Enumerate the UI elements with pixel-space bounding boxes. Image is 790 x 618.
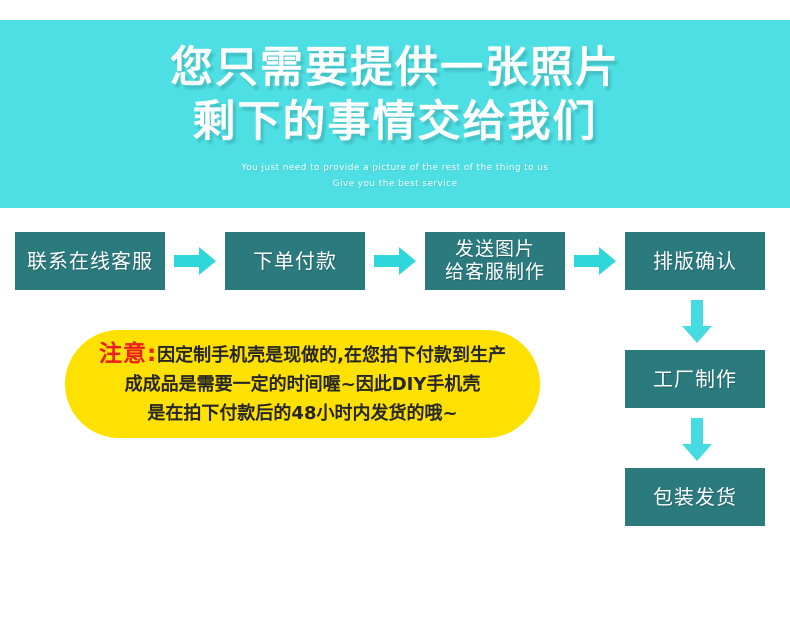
hero-banner: 您只需要提供一张照片 剩下的事情交给我们 You just need to pr… [0, 20, 790, 208]
flow-step-factory-production[interactable]: 工厂制作 [625, 350, 765, 408]
hero-subtitle-line-2: Give you the best service [242, 176, 549, 192]
arrow-right-icon [574, 246, 616, 276]
arrow-right-icon [174, 246, 216, 276]
hero-subtitle-line-1: You just need to provide a picture of th… [242, 160, 549, 176]
hero-title-line-1: 您只需要提供一张照片 [170, 42, 620, 94]
notice-label: 注意: [99, 341, 157, 367]
hero-subtitle: You just need to provide a picture of th… [242, 160, 549, 192]
notice-line-3: 是在拍下付款后的48小时内发货的哦~ [91, 399, 514, 428]
flow-step-packaging-shipping[interactable]: 包装发货 [625, 468, 765, 526]
flow-step-send-picture[interactable]: 发送图片 给客服制作 [425, 232, 565, 290]
notice-line-1: 注意:因定制手机壳是现做的,在您拍下付款到生产 [91, 340, 514, 370]
flow-step-send-picture-line-1: 发送图片 [445, 238, 545, 261]
notice-line-1-text: 因定制手机壳是现做的,在您拍下付款到生产 [157, 345, 506, 366]
flow-step-contact-service[interactable]: 联系在线客服 [15, 232, 165, 290]
notice-line-2: 成成品是需要一定的时间喔~因此DIY手机壳 [91, 370, 514, 399]
promo-page: 您只需要提供一张照片 剩下的事情交给我们 You just need to pr… [0, 0, 790, 618]
hero-title-line-2: 剩下的事情交给我们 [193, 96, 598, 148]
arrow-down-icon [681, 300, 713, 344]
arrow-right-icon [374, 246, 416, 276]
notice-callout: 注意:因定制手机壳是现做的,在您拍下付款到生产 成成品是需要一定的时间喔~因此D… [65, 330, 540, 438]
flow-step-layout-confirm[interactable]: 排版确认 [625, 232, 765, 290]
flow-step-send-picture-line-2: 给客服制作 [445, 261, 545, 284]
arrow-down-icon [681, 418, 713, 462]
flow-step-place-order[interactable]: 下单付款 [225, 232, 365, 290]
